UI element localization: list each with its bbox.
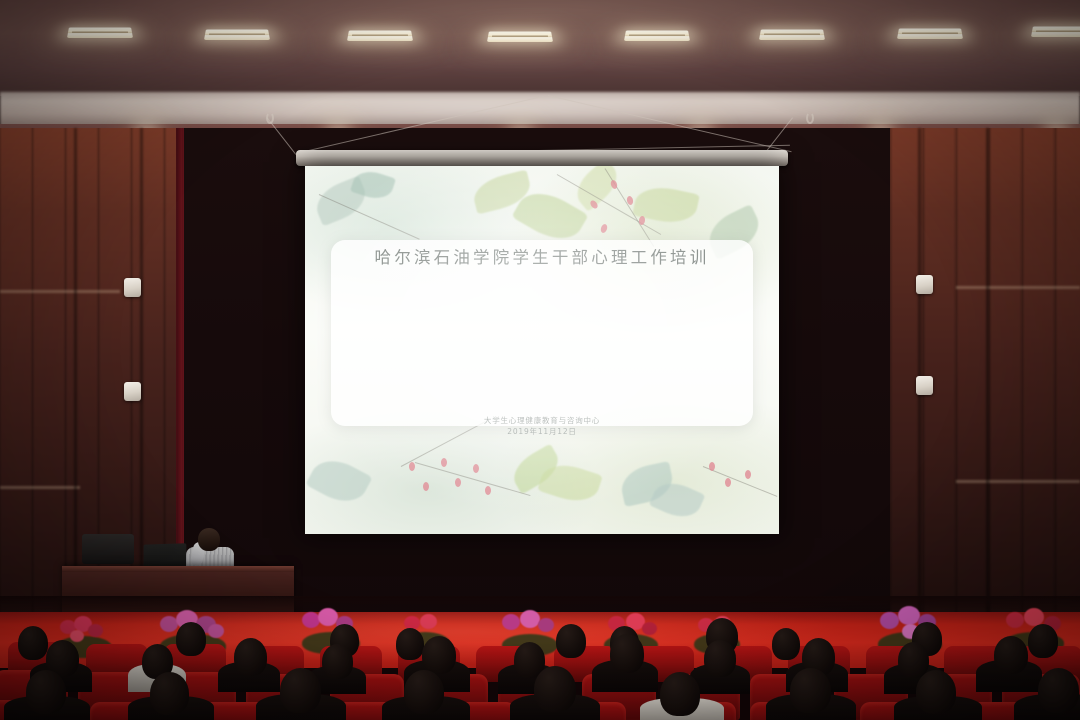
wall-speaker-fixture <box>916 376 933 395</box>
audience-head <box>916 670 956 714</box>
audience-head <box>176 622 206 656</box>
ceiling-panel-light <box>67 27 133 37</box>
berry-decoration <box>441 458 447 467</box>
screen-top-bar <box>296 150 788 166</box>
screen-hook-left <box>266 112 274 124</box>
ceiling-panel-light <box>487 31 553 41</box>
ceiling-panel-light <box>624 30 690 40</box>
audience-head <box>280 668 321 713</box>
ceiling-panel-light <box>759 29 825 39</box>
audience-head <box>660 672 700 716</box>
audience-head <box>1038 668 1079 713</box>
wall-speaker-fixture <box>916 275 933 294</box>
wall-speaker-fixture <box>124 382 141 401</box>
audience-area <box>0 600 1080 720</box>
twig-decoration <box>703 466 778 497</box>
presenter-head <box>198 528 220 551</box>
berry-decoration <box>473 464 479 473</box>
leaf-decoration <box>305 451 372 511</box>
presentation-slide: 哈尔滨石油学院学生干部心理工作培训 大学生心理健康教育与咨询中心 2019年11… <box>305 166 779 534</box>
ceiling-panel-light <box>897 28 963 38</box>
audience-head <box>26 670 66 714</box>
auditorium-scene: 哈尔滨石油学院学生干部心理工作培训 大学生心理健康教育与咨询中心 2019年11… <box>0 0 1080 720</box>
audience-head <box>322 644 353 679</box>
berry-decoration <box>455 478 461 487</box>
berry-decoration <box>709 462 715 471</box>
ceiling-panel-light <box>1031 26 1080 36</box>
head-table-edge <box>62 566 294 572</box>
berry-decoration <box>745 470 751 479</box>
audience-head <box>610 634 644 673</box>
ceiling-panel-light <box>204 29 270 39</box>
audience-head <box>790 668 831 713</box>
berry-decoration <box>423 482 429 491</box>
audience-head <box>1028 624 1058 658</box>
slide-title: 哈尔滨石油学院学生干部心理工作培训 <box>305 244 779 268</box>
wall-speaker-fixture <box>124 278 141 297</box>
berry-decoration <box>485 486 491 495</box>
audience-head <box>234 638 267 676</box>
projection-screen[interactable]: 哈尔滨石油学院学生干部心理工作培训 大学生心理健康教育与咨询中心 2019年11… <box>305 166 779 534</box>
slide-subtitle: 大学生心理健康教育与咨询中心 <box>305 415 779 426</box>
screen-hook-right <box>806 112 814 124</box>
slide-date: 2019年11月12日 <box>305 426 779 437</box>
berry-decoration <box>600 223 609 234</box>
audience-head <box>534 666 576 712</box>
audience-head <box>18 626 48 660</box>
av-equipment-box <box>82 534 134 564</box>
audience-head <box>556 624 586 658</box>
audience-head <box>704 640 736 677</box>
audience-head <box>772 628 800 660</box>
audience-head <box>396 628 424 660</box>
audience-head <box>422 636 456 674</box>
audience-head <box>150 672 189 715</box>
ceiling-panel-light <box>347 30 413 40</box>
audience-head <box>994 636 1028 674</box>
berry-decoration <box>725 478 731 487</box>
berry-decoration <box>409 462 415 471</box>
audience-head <box>404 670 444 714</box>
ceiling-upper <box>0 0 1080 96</box>
